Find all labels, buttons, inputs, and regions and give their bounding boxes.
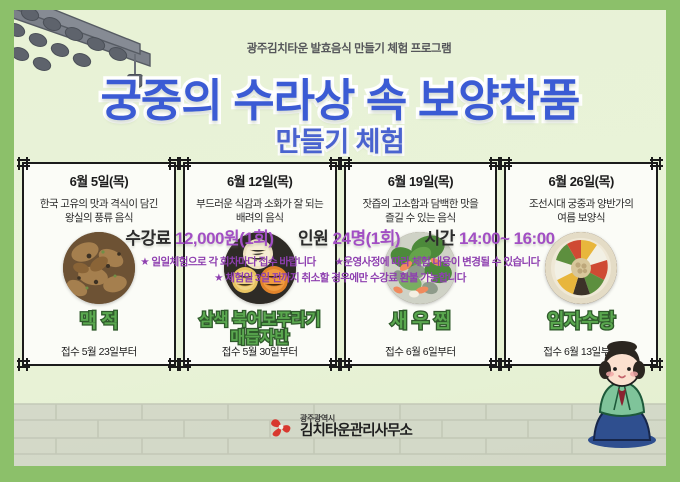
dish-name-line1: 삼색 북어보푸라기 [199,311,321,329]
course-description: 한국 고유의 맛과 격식이 담긴 왕실의 풍류 음식 [40,197,158,226]
program-tagline: 광주김치타운 발효음식 만들기 체험 프로그램 [14,40,666,56]
corner-ornament-icon [338,357,353,372]
office-name: 김치타운관리사무소 [300,424,412,439]
fee-value: 12,000원(1회) [175,229,274,248]
course-desc-line2: 즐길 수 있는 음식 [385,212,455,224]
registration-info: 접수 5월 30일부터 [185,344,335,359]
time-label: 시간 [425,229,455,248]
course-info-bar: 수강료 12,000원(1회) 인원 24명(1회) 시간 14:00~ 16:… [14,224,666,249]
dish-name: 맥 적 [80,311,119,332]
fee-label: 수강료 [125,229,170,248]
course-date: 6월 5일(목) [70,171,129,190]
hanbok-woman-illustration [574,340,666,448]
corner-ornament-icon [498,156,513,171]
poster-root: 광주김치타운 발효음식 만들기 체험 프로그램 궁중의 수라상 속 보양찬품 만… [0,0,680,482]
course-date: 6월 19일(목) [388,171,453,190]
page-subtitle: 만들기 체험 [14,120,666,159]
capacity-value: 24명(1회) [333,229,400,248]
dish-name: 삼색 북어보푸라기 매듭자반 [199,311,321,348]
registration-info: 접수 5월 23일부터 [24,344,174,359]
registration-info: 접수 6월 6일부터 [346,344,496,359]
time-value: 14:00~ 16:00 [459,229,555,248]
capacity-label: 인원 [298,229,328,248]
course-description: 조선시대 궁중과 양반가의 여름 보양식 [529,197,633,226]
course-desc-line2: 배려의 음식 [236,212,284,224]
kimchitown-pinwheel-icon [268,414,294,440]
course-date: 6월 12일(목) [227,171,292,190]
course-description: 부드러운 식감과 소화가 잘 되는 배려의 음식 [196,197,323,226]
corner-ornament-icon [16,156,31,171]
notice-item-3: ★ 체험일 3일 전까지 취소할 경우에만 수강료 환불 가능합니다 [214,272,466,284]
course-desc-line1: 잣즙의 고소함과 담백한 맛을 [363,198,479,210]
corner-ornament-icon [649,156,664,171]
course-desc-line2: 여름 보양식 [557,212,605,224]
corner-ornament-icon [177,156,192,171]
corner-ornament-icon [16,357,31,372]
notice-item-2: ★운영사정에 따라 체험 내용이 변경될 수 있습니다 [335,256,540,268]
dish-name: 새 우 찜 [390,311,451,332]
dish-name: 임자수탕 [547,311,615,332]
corner-ornament-icon [177,357,192,372]
notice-list: ★ 일일체험으로 각 회차마다 접수 바랍니다 ★운영사정에 따라 체험 내용이… [14,254,666,287]
course-description: 잣즙의 고소함과 담백한 맛을 즐길 수 있는 음식 [363,197,479,226]
logo-text-block: 광주광역시 김치타운관리사무소 [300,415,412,439]
poster-panel: 광주김치타운 발효음식 만들기 체험 프로그램 궁중의 수라상 속 보양찬품 만… [14,10,666,466]
notice-item-1: ★ 일일체험으로 각 회차마다 접수 바랍니다 [140,256,316,268]
corner-ornament-icon [338,156,353,171]
organization-logo: 광주광역시 김치타운관리사무소 [14,414,666,440]
course-desc-line1: 조선시대 궁중과 양반가의 [529,198,633,210]
course-desc-line1: 한국 고유의 맛과 격식이 담긴 [40,198,158,210]
course-date: 6월 26일(목) [548,171,613,190]
corner-ornament-icon [498,357,513,372]
course-desc-line2: 왕실의 풍류 음식 [65,212,133,224]
course-desc-line1: 부드러운 식감과 소화가 잘 되는 [196,198,323,210]
